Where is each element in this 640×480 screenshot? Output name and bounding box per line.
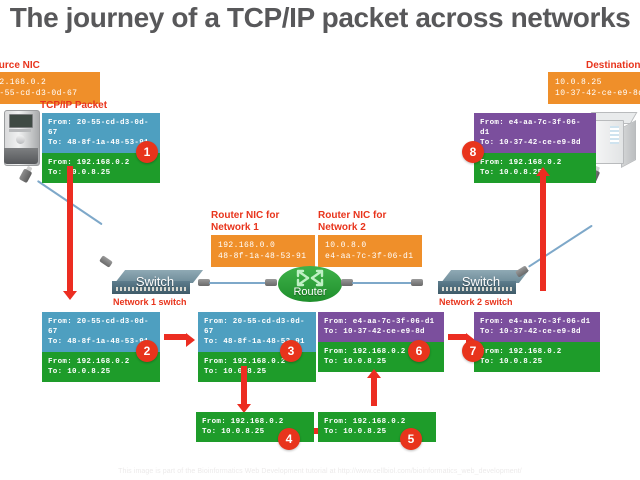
switch-right-label: Switch	[438, 274, 524, 289]
diagram-canvas: The journey of a TCP/IP packet across ne…	[0, 0, 640, 480]
packet-box-1: From: 20-55-cd-d3-0d-67 To: 48-8f-1a-48-…	[42, 113, 160, 183]
arrow-1-to-2-head	[63, 291, 77, 300]
packet-box-8: From: e4-aa-7c-3f-06-d1 To: 10-37-42-ce-…	[474, 113, 596, 183]
network1-switch-caption: Network 1 switch	[113, 296, 187, 308]
router-arrows-icon	[296, 269, 324, 287]
packet-7-ethernet-header: From: e4-aa-7c-3f-06-d1 To: 10-37-42-ce-…	[474, 312, 600, 342]
router-nic2-label: Router NIC for Network 2	[318, 210, 386, 234]
arrow-2-to-3-head	[186, 333, 195, 347]
step-badge-7: 7	[462, 340, 484, 362]
packet-box-7: From: e4-aa-7c-3f-06-d1 To: 10-37-42-ce-…	[474, 312, 600, 372]
step-badge-8: 8	[462, 141, 484, 163]
packet-box-5: From: 192.168.0.2 To: 10.0.8.25 5	[318, 412, 436, 442]
network2-switch-icon: Switch	[438, 270, 524, 296]
packet-8-ip-header: From: 192.168.0.2 To: 10.0.8.25	[474, 153, 596, 183]
footer-credit: This image is part of the Bioinformatics…	[0, 468, 640, 475]
packet-6-ethernet-header: From: e4-aa-7c-3f-06-d1 To: 10-37-42-ce-…	[318, 312, 444, 342]
arrow-2-to-3	[164, 334, 186, 340]
arrow-6-to-7	[448, 334, 466, 340]
arrow-7-to-8	[540, 176, 546, 291]
cable-switch1-to-router	[209, 282, 269, 284]
network1-switch-icon: Switch	[112, 270, 198, 296]
tcpip-packet-label: TCP/IP Packet	[40, 100, 107, 112]
arrow-3-to-4	[241, 366, 247, 404]
packet-box-4: From: 192.168.0.2 To: 10.0.8.25 4	[196, 412, 314, 442]
router-nic1-label: Router NIC for Network 1	[211, 210, 279, 234]
packet-box-6: From: e4-aa-7c-3f-06-d1 To: 10-37-42-ce-…	[318, 312, 444, 372]
router-icon: Router	[278, 262, 342, 306]
router-label: Router	[278, 286, 342, 298]
cable-switch2-to-destination	[528, 225, 593, 268]
page-title: The journey of a TCP/IP packet across ne…	[0, 2, 640, 34]
switch-left-label: Switch	[112, 274, 198, 289]
packet-8-ethernet-header: From: e4-aa-7c-3f-06-d1 To: 10-37-42-ce-…	[474, 113, 596, 153]
arrow-5-to-6-head	[367, 369, 381, 378]
step-badge-1: 1	[136, 141, 158, 163]
arrow-7-to-8-head	[536, 167, 550, 176]
destination-nic-box: 10.0.8.25 10-37-42-ce-e9-8d	[548, 72, 640, 104]
packet-box-2: From: 20-55-cd-d3-0d-67 To: 48-8f-1a-48-…	[42, 312, 160, 382]
connector-router-left	[265, 279, 277, 286]
cable-connector-switch-left	[99, 255, 113, 268]
connector-switch-right-left	[411, 279, 423, 286]
source-computer-icon	[2, 110, 42, 168]
step-badge-2: 2	[136, 340, 158, 362]
step-badge-5: 5	[400, 428, 422, 450]
step-badge-6: 6	[408, 340, 430, 362]
network2-switch-caption: Network 2 switch	[439, 296, 513, 308]
step-badge-4: 4	[278, 428, 300, 450]
packet-7-ip-header: From: 192.168.0.2 To: 10.0.8.25	[474, 342, 600, 372]
arrow-1-to-2	[67, 166, 73, 291]
arrow-5-to-6	[371, 378, 377, 406]
source-nic-label: Source NIC	[0, 60, 40, 72]
step-badge-3: 3	[280, 340, 302, 362]
cable-router-to-switch2	[352, 282, 414, 284]
packet-box-3: From: 20-55-cd-d3-0d-67 To: 48-8f-1a-48-…	[198, 312, 316, 382]
